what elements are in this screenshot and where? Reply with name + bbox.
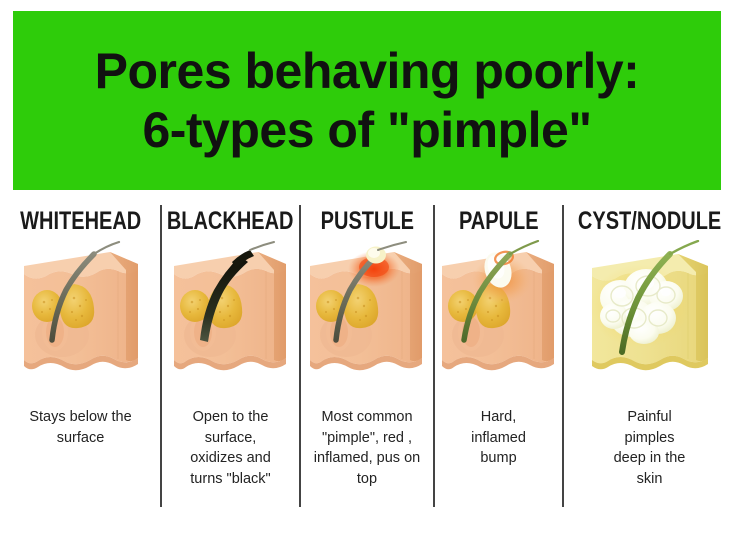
column-whitehead: WHITEHEAD [0,196,161,535]
column-blackhead: BLACKHEAD [161,196,300,535]
caption-pustule: Most common "pimple", red , inflamed, pu… [304,395,430,489]
papule-skin-diagram [434,240,563,395]
column-title-blackhead: BLACKHEAD [167,204,294,238]
column-title-whitehead: WHITEHEAD [20,204,141,238]
caption-whitehead: Stays below the surface [16,395,146,448]
whitehead-skin-diagram [0,240,161,395]
caption-cyst-nodule: Painful pimples deep in the skin [602,395,698,489]
banner-title-line-2: 6-types of "pimple" [142,101,591,160]
column-pustule: PUSTULE [300,196,434,535]
column-papule: PAPULE [434,196,563,535]
column-cyst-nodule: CYST/NODULE [563,196,736,535]
pustule-skin-diagram [300,240,434,395]
column-title-cyst-nodule: CYST/NODULE [578,204,721,238]
blackhead-skin-diagram [161,240,300,395]
header-banner: Pores behaving poorly: 6-types of "pimpl… [13,11,721,190]
caption-blackhead: Open to the surface, oxidizes and turns … [170,395,292,489]
column-title-pustule: PUSTULE [320,204,413,238]
banner-title-line-1: Pores behaving poorly: [95,42,640,101]
pimple-types-row: WHITEHEAD [0,196,736,535]
column-title-papule: PAPULE [459,204,539,238]
cyst-nodule-skin-diagram [563,240,736,395]
caption-papule: Hard, inflamed bump [445,395,553,469]
infographic-page: Pores behaving poorly: 6-types of "pimpl… [0,0,736,535]
